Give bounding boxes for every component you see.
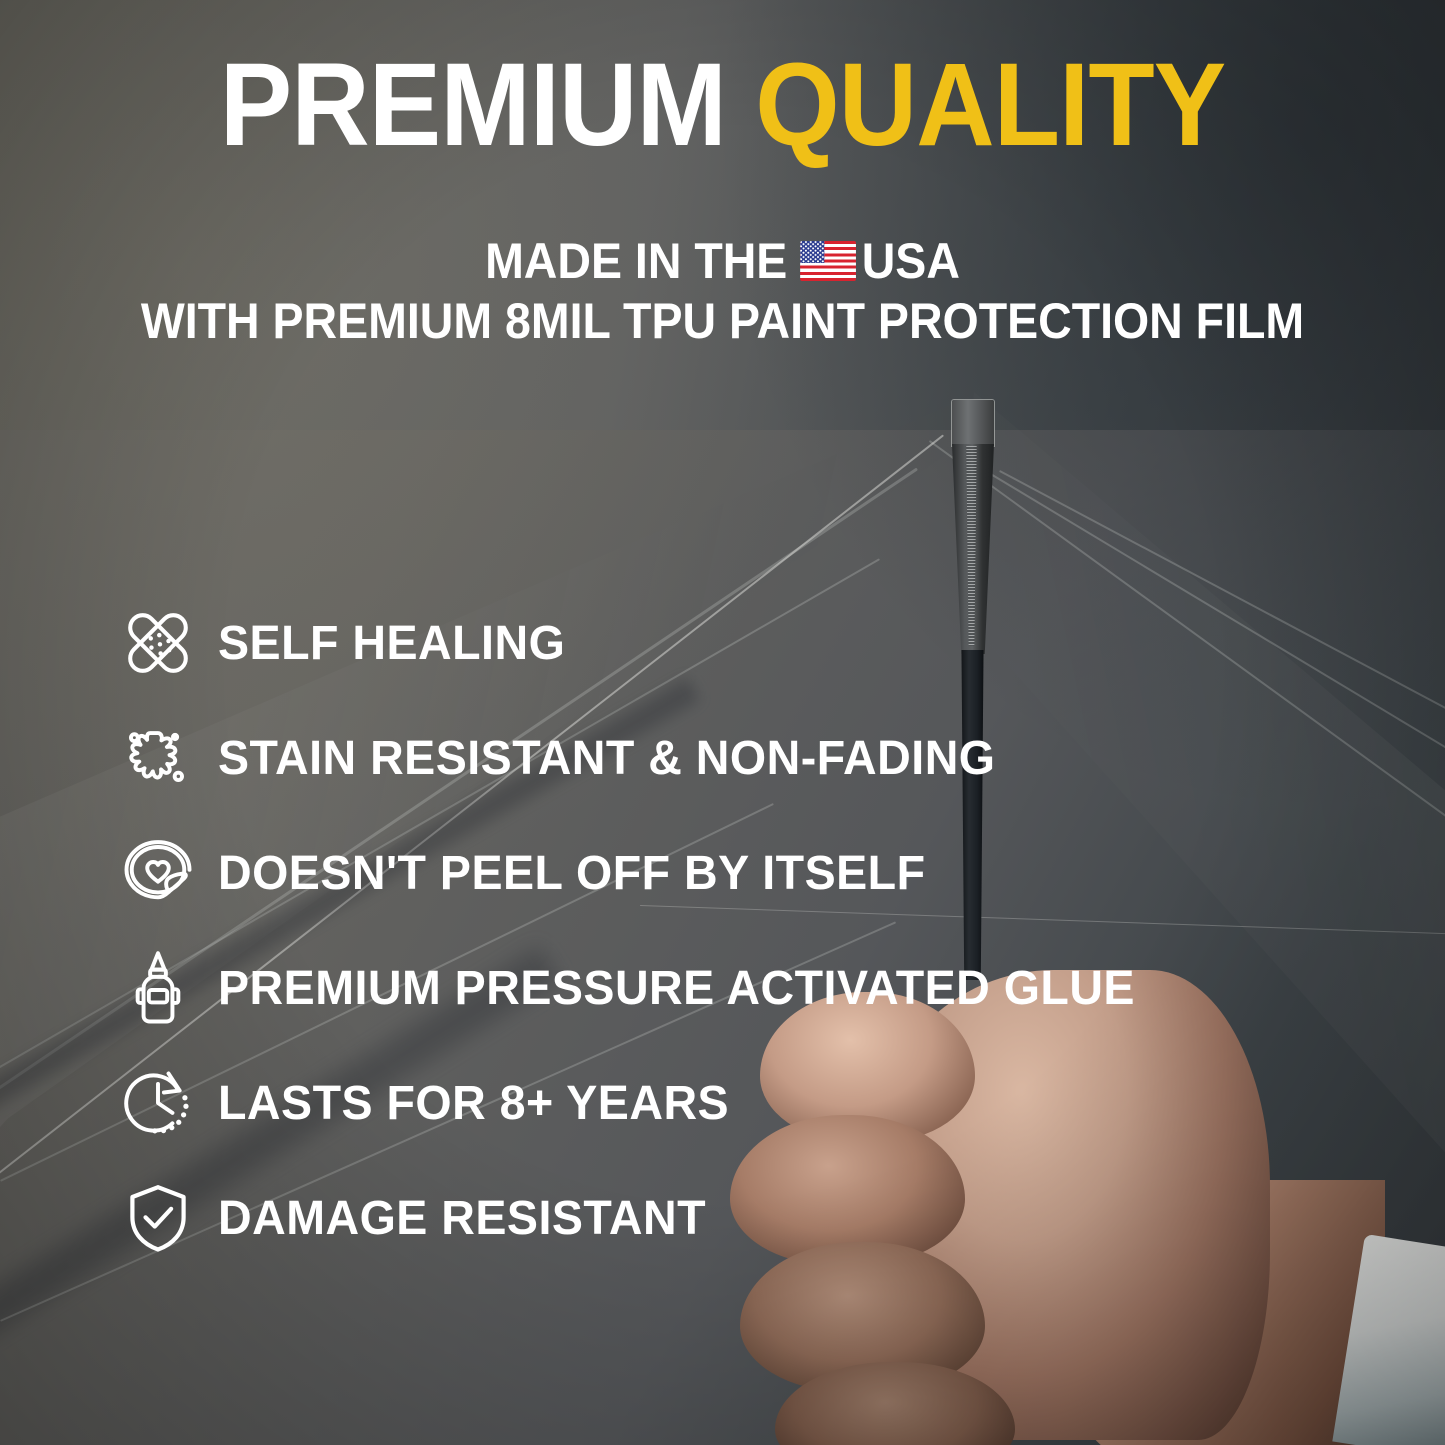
overlay-content: PREMIUM QUALITY MADE IN THE USA WITH PRE… [0, 0, 1445, 1445]
feature-item-lasts-years: LASTS FOR 8+ YEARS [112, 1058, 1163, 1148]
subheadline-line-1: MADE IN THE USA [51, 232, 1395, 290]
page-title: PREMIUM QUALITY [58, 46, 1387, 164]
product-feature-banner: PREMIUM QUALITY MADE IN THE USA WITH PRE… [0, 0, 1445, 1445]
feature-item-self-healing: SELF HEALING [112, 598, 1163, 688]
made-in-the-text: MADE IN THE [485, 232, 787, 290]
shield-check-icon [112, 1173, 204, 1263]
stain-splatter-icon [112, 713, 204, 803]
feature-item-damage-resistant: DAMAGE RESISTANT [112, 1173, 1163, 1263]
glue-bottle-icon [112, 943, 204, 1033]
clock-durability-icon [112, 1058, 204, 1148]
feature-item-no-peel: DOESN'T PEEL OFF BY ITSELF [112, 828, 1163, 918]
feature-list: SELF HEALING STAIN RESISTANT & NON-FADIN… [112, 598, 1163, 1288]
feature-item-stain-resistant: STAIN RESISTANT & NON-FADING [112, 713, 1163, 803]
feature-label: DAMAGE RESISTANT [218, 1191, 706, 1246]
flag-stars [800, 241, 824, 263]
feature-label: STAIN RESISTANT & NON-FADING [218, 731, 996, 786]
crossed-bandages-icon [112, 598, 204, 688]
headline-quality: QUALITY [755, 39, 1225, 171]
feature-label: PREMIUM PRESSURE ACTIVATED GLUE [218, 961, 1135, 1016]
feature-label: LASTS FOR 8+ YEARS [218, 1076, 729, 1131]
usa-flag-icon [800, 241, 856, 281]
headline-premium: PREMIUM [220, 39, 726, 171]
subheadline-line-2: WITH PREMIUM 8MIL TPU PAINT PROTECTION F… [51, 292, 1395, 350]
feature-item-glue: PREMIUM PRESSURE ACTIVATED GLUE [112, 943, 1163, 1033]
feature-label: SELF HEALING [218, 616, 565, 671]
usa-text: USA [862, 232, 960, 290]
feature-label: DOESN'T PEEL OFF BY ITSELF [218, 846, 926, 901]
peeling-sticker-heart-icon [112, 828, 204, 918]
